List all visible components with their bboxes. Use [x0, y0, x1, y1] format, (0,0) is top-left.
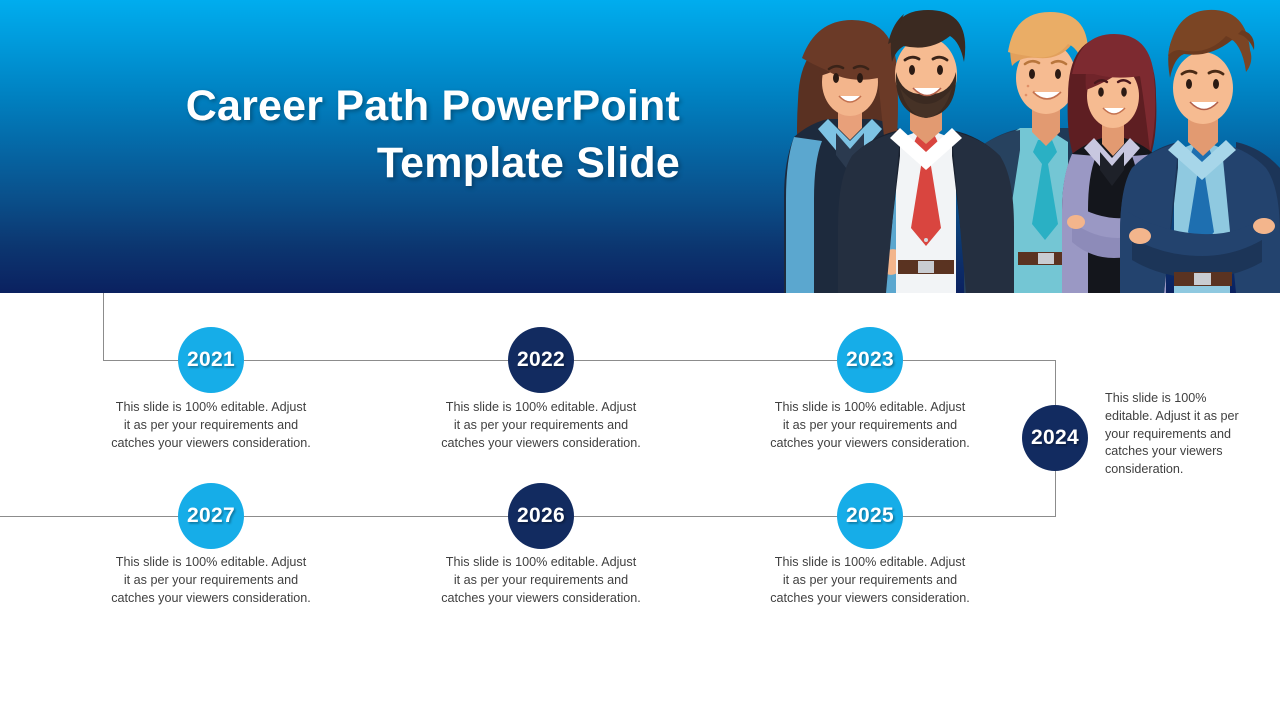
- timeline-node-2022[interactable]: 2022: [508, 327, 574, 393]
- header-banner: Career Path PowerPoint Template Slide: [0, 0, 1280, 293]
- node-year-label: 2024: [1031, 426, 1079, 450]
- page-title: Career Path PowerPoint Template Slide: [60, 78, 680, 192]
- timeline-node-2024[interactable]: 2024: [1022, 405, 1088, 471]
- timeline-node-2025[interactable]: 2025: [837, 483, 903, 549]
- timeline-desc-2026: This slide is 100% editable. Adjust it a…: [441, 554, 641, 607]
- timeline-desc-2023: This slide is 100% editable. Adjust it a…: [770, 399, 970, 452]
- timeline-node-2026[interactable]: 2026: [508, 483, 574, 549]
- node-year-label: 2023: [846, 348, 894, 372]
- timeline-node-2021[interactable]: 2021: [178, 327, 244, 393]
- timeline-node-2027[interactable]: 2027: [178, 483, 244, 549]
- node-year-label: 2025: [846, 504, 894, 528]
- node-year-label: 2026: [517, 504, 565, 528]
- timeline-node-2023[interactable]: 2023: [837, 327, 903, 393]
- timeline-desc-2025: This slide is 100% editable. Adjust it a…: [770, 554, 970, 607]
- timeline-desc-2022: This slide is 100% editable. Adjust it a…: [441, 399, 641, 452]
- timeline-desc-2027: This slide is 100% editable. Adjust it a…: [111, 554, 311, 607]
- timeline-desc-2021: This slide is 100% editable. Adjust it a…: [111, 399, 311, 452]
- timeline-desc-2024: This slide is 100% editable. Adjust it a…: [1105, 390, 1253, 479]
- slide-canvas: Career Path PowerPoint Template Slide: [0, 0, 1280, 720]
- node-year-label: 2022: [517, 348, 565, 372]
- connector-rail-top: [103, 360, 1056, 361]
- business-team-illustration: [780, 0, 1280, 293]
- node-year-label: 2027: [187, 504, 235, 528]
- connector-vertical-start: [103, 293, 104, 361]
- node-year-label: 2021: [187, 348, 235, 372]
